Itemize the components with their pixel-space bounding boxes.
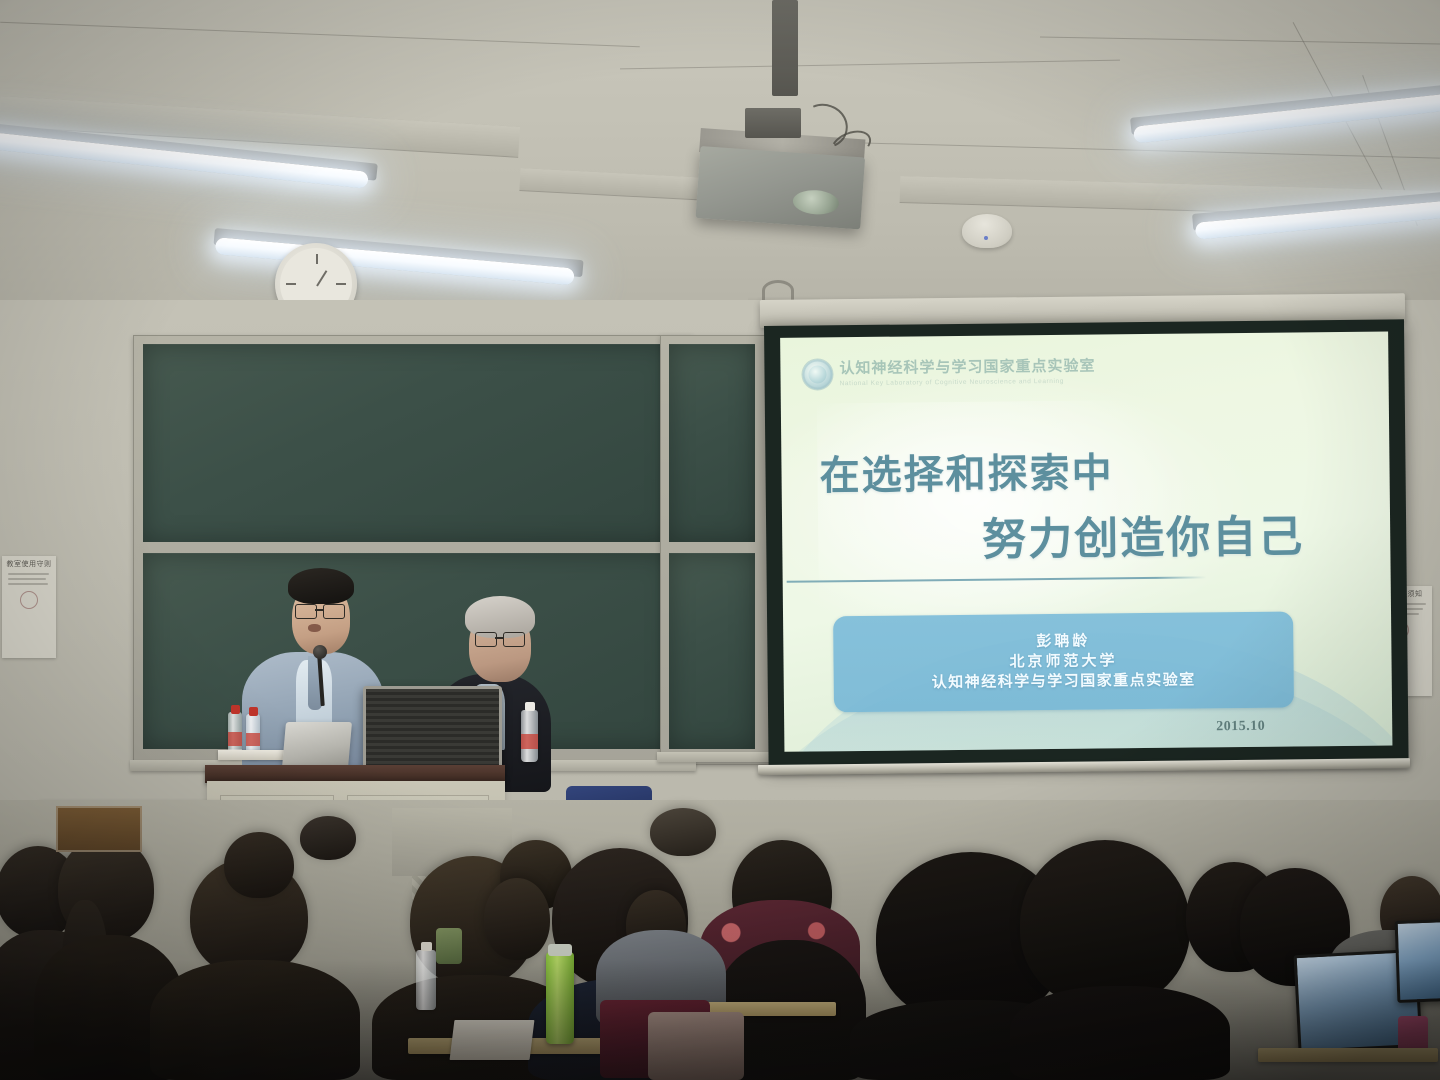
notebook-icon (450, 1020, 535, 1060)
presenter-glasses (295, 604, 317, 619)
laptop-icon (1395, 919, 1440, 1003)
plant-item (436, 928, 462, 964)
screen-bracket-hook (762, 280, 794, 301)
audience-head (484, 878, 550, 960)
microphone-icon (313, 645, 327, 659)
slide-speaker-name: 彭聃龄 (1036, 631, 1090, 652)
lab-header-en: National Key Laboratory of Cognitive Neu… (840, 377, 1096, 387)
slide-title-line2: 努力创造你自己 (982, 500, 1305, 567)
projector-bracket (745, 108, 801, 138)
audience-body (150, 960, 360, 1080)
slide-speaker-lab: 认知神经科学与学习国家重点实验室 (932, 671, 1196, 694)
laptop-icon (282, 722, 352, 768)
monitor-icon (363, 686, 502, 774)
slide-surface: 认知神经科学与学习国家重点实验室 National Key Laboratory… (780, 331, 1392, 751)
notice-body (6, 573, 52, 585)
lecture-hall-photo: 教室使用守则 学生上课须知 (0, 0, 1440, 1080)
projection-screen-icon: 认知神经科学与学习国家重点实验室 National Key Laboratory… (764, 319, 1409, 768)
slide-speaker-affiliation: 北京师范大学 (1009, 651, 1117, 672)
thermos-icon (546, 952, 574, 1044)
notice-title: 教室使用守则 (6, 561, 52, 569)
notice-stamp (20, 591, 38, 609)
water-bottle-icon (416, 950, 436, 1010)
presenter-glasses (475, 632, 497, 647)
presenter-mouth (308, 624, 321, 632)
audience-body (1010, 986, 1230, 1080)
lab-header-cn: 认知神经科学与学习国家重点实验室 (839, 359, 1095, 378)
chalk-tray (657, 752, 775, 762)
audience-head (650, 808, 716, 856)
bag-icon (648, 1012, 744, 1080)
water-bottle-icon (521, 710, 538, 762)
blackboard-panel (669, 553, 755, 749)
audience-desk (1258, 1048, 1438, 1062)
presenter-glasses-bridge (315, 609, 323, 611)
slide-title-line1: 在选择和探索中 (819, 440, 1114, 501)
lab-seal-icon (802, 359, 832, 389)
projector-mount-pole (772, 0, 798, 96)
audience-head (300, 816, 356, 860)
slide-lab-header: 认知神经科学与学习国家重点实验室 National Key Laboratory… (802, 357, 1095, 390)
blackboard-panel (669, 344, 755, 542)
presenter-hair (288, 568, 354, 604)
slide-speaker-box: 彭聃龄 北京师范大学 认知神经科学与学习国家重点实验室 (833, 611, 1294, 712)
presenter-glasses (503, 632, 525, 647)
smoke-detector-icon (962, 214, 1012, 248)
blackboard-panel (143, 344, 671, 542)
blackboard-right (660, 335, 770, 765)
audience-head (224, 832, 294, 898)
slide-date: 2015.10 (1216, 719, 1265, 736)
audience-head (1020, 840, 1190, 1008)
wall-frame (56, 806, 142, 852)
presenter-glasses (323, 604, 345, 619)
presenter-glasses-bridge (495, 637, 503, 639)
wall-notice-left: 教室使用守则 (2, 556, 56, 658)
slide-divider-rule (787, 576, 1207, 582)
thermos-cap (548, 944, 572, 956)
